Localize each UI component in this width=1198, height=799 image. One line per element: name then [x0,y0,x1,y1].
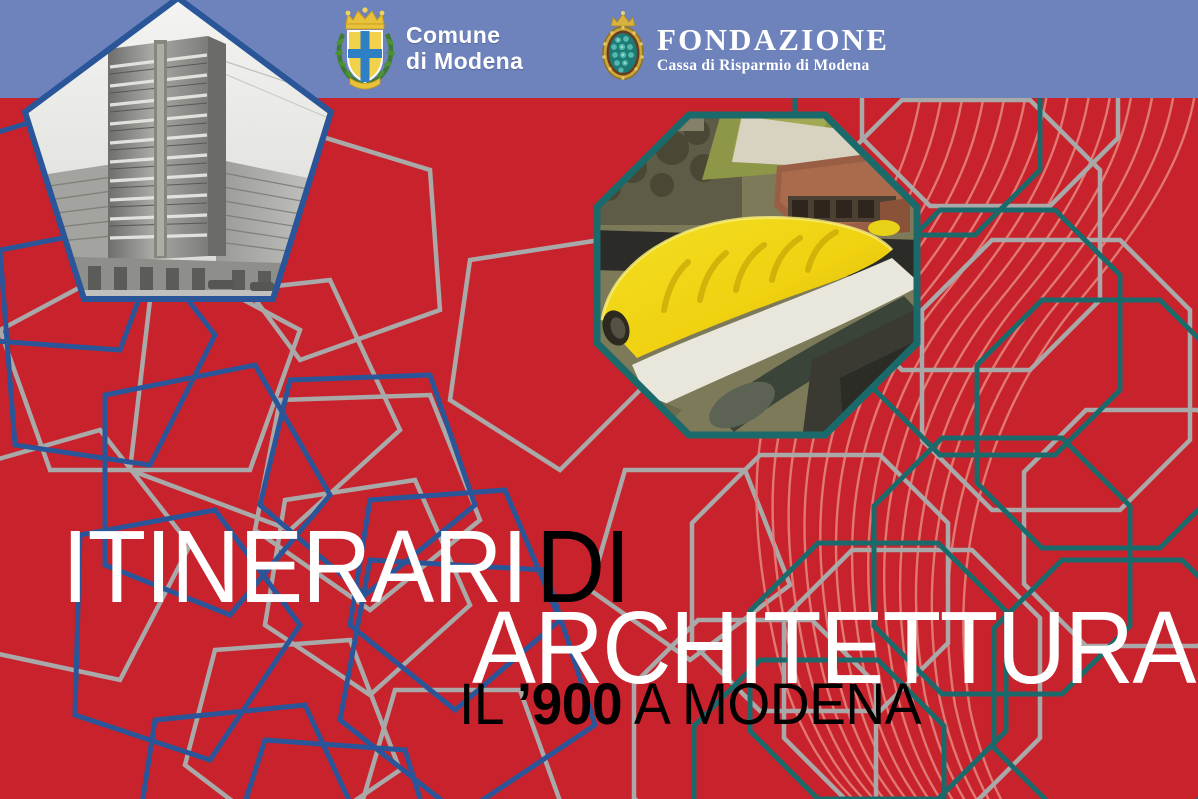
octagon-outline [1024,410,1198,646]
poster-canvas: Comune di Modena [0,0,1198,799]
octagon-outline [784,550,1040,799]
comune-line-1: Comune [406,23,523,49]
octagon-outline [922,240,1190,510]
comune-line-2: di Modena [406,49,523,75]
pentagon-photo-black-and-white-modernist-tower [18,0,338,332]
fondazione-cassa-di-risparmio-crest [598,10,648,88]
comune-di-modena-logo: Comune di Modena [334,6,523,92]
fondazione-label: FONDAZIONE Cassa di Risparmio di Modena [657,24,889,74]
comune-label: Comune di Modena [406,23,523,75]
fondazione-subtitle: Cassa di Risparmio di Modena [657,58,889,74]
octagon-outline [874,438,1130,694]
fondazione-title: FONDAZIONE [657,24,889,55]
octagon-outline [994,560,1198,799]
fondazione-logo: FONDAZIONE Cassa di Risparmio di Modena [598,10,889,88]
octagon-photo-aerial-yellow-roof-building [592,110,922,440]
comune-di-modena-coat-of-arms [334,6,396,92]
